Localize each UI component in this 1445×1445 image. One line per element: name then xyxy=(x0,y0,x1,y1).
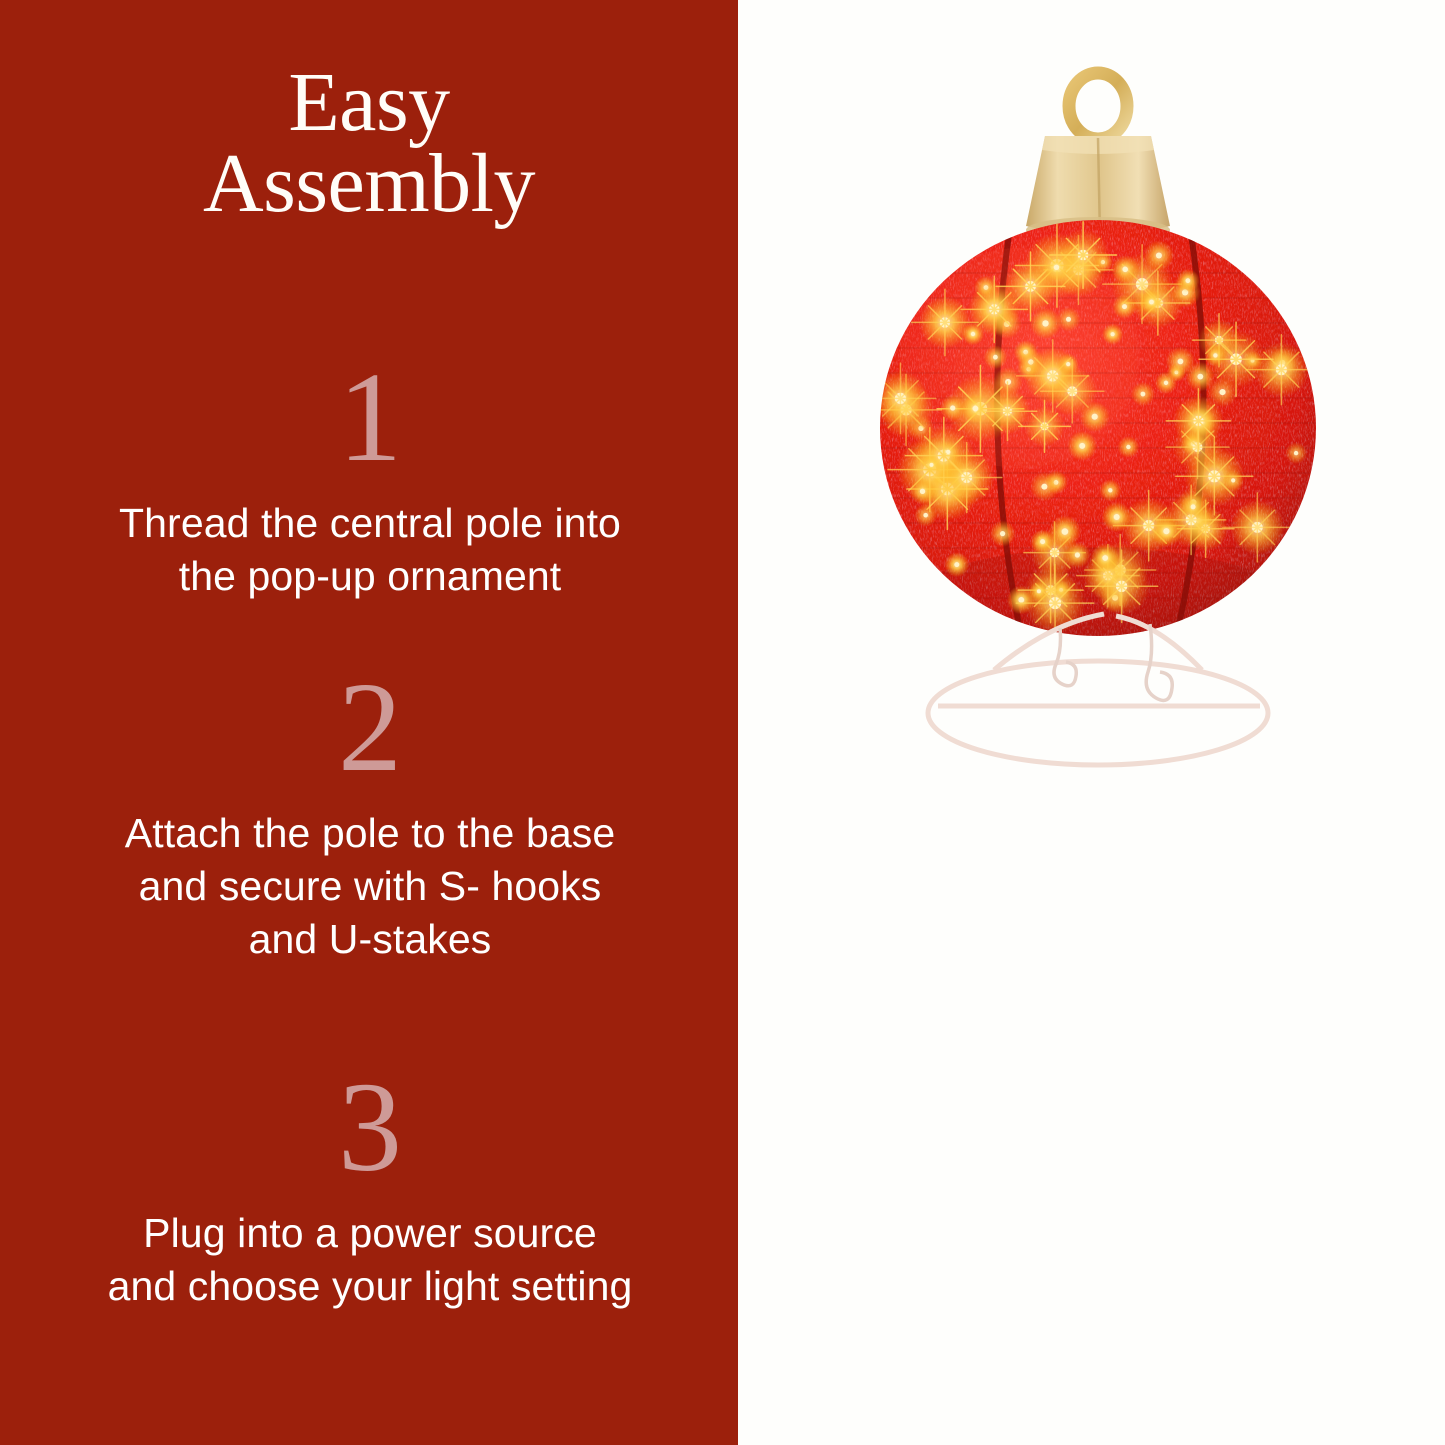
assembly-step-2: 2 Attach the pole to the base and secure… xyxy=(55,662,685,966)
step-text-1: Thread the central pole into the pop-up … xyxy=(55,497,685,604)
assembly-step-3: 3 Plug into a power source and choose yo… xyxy=(55,1062,685,1313)
right-product-panel: U-Stakes x8 xyxy=(738,0,1445,1445)
ornament-assembly-image xyxy=(798,58,1398,798)
ornament-hanging-ring-icon xyxy=(1069,73,1127,139)
step-number-1: 1 xyxy=(55,352,685,483)
ornament-on-stand-icon xyxy=(798,58,1398,798)
step-number-3: 3 xyxy=(55,1062,685,1193)
step-text-2: Attach the pole to the base and secure w… xyxy=(55,807,685,967)
ornament-stand-icon xyxy=(928,614,1268,765)
step-text-3: Plug into a power source and choose your… xyxy=(55,1207,685,1314)
assembly-step-1: 1 Thread the central pole into the pop-u… xyxy=(55,352,685,603)
assembly-steps-list: 1 Thread the central pole into the pop-u… xyxy=(0,0,738,1445)
step-number-2: 2 xyxy=(55,662,685,793)
left-instruction-panel: Easy Assembly 1 Thread the central pole … xyxy=(0,0,738,1445)
infographic-root: Easy Assembly 1 Thread the central pole … xyxy=(0,0,1445,1445)
